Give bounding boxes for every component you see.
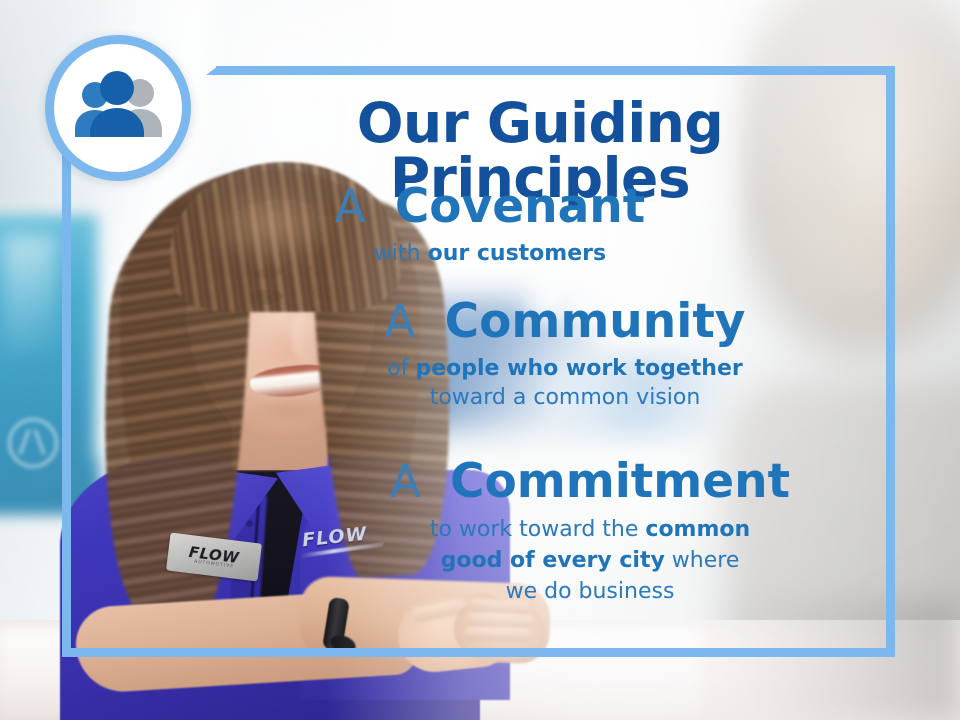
principle-community-sub-line-1: toward a common vision <box>280 383 850 412</box>
principle-commitment-word: Commitment <box>450 454 790 509</box>
principle-covenant-sub-line-0: with our customers <box>230 239 750 268</box>
principle-covenant-article: A <box>335 180 380 233</box>
banner-canvas: FLOW AUTOMOTIVE FLOW <box>0 0 960 720</box>
principle-community-article: A <box>385 295 430 348</box>
principle-community-heading: A Community <box>280 298 850 347</box>
text-content: Our Guiding Principles A Covenant with o… <box>0 0 960 720</box>
principle-community: A Community of people who work together … <box>280 298 850 412</box>
principle-covenant-heading: A Covenant <box>230 183 750 232</box>
principle-commitment-article: A <box>390 455 435 508</box>
principle-commitment-sub-line-0: to work toward the common <box>300 514 880 545</box>
principle-community-word: Community <box>445 294 746 349</box>
principle-commitment: A Commitment to work toward the common g… <box>300 458 880 608</box>
principle-community-sub: of people who work together toward a com… <box>280 354 850 412</box>
principle-community-sub-line-0: of people who work together <box>280 354 850 383</box>
principle-commitment-heading: A Commitment <box>300 458 880 507</box>
principle-covenant: A Covenant with our customers <box>230 183 750 268</box>
principle-commitment-sub-line-2: we do business <box>300 576 880 607</box>
principle-commitment-sub-line-1: good of every city where <box>300 545 880 576</box>
principle-commitment-sub: to work toward the common good of every … <box>300 514 880 608</box>
principle-covenant-word: Covenant <box>395 179 645 234</box>
